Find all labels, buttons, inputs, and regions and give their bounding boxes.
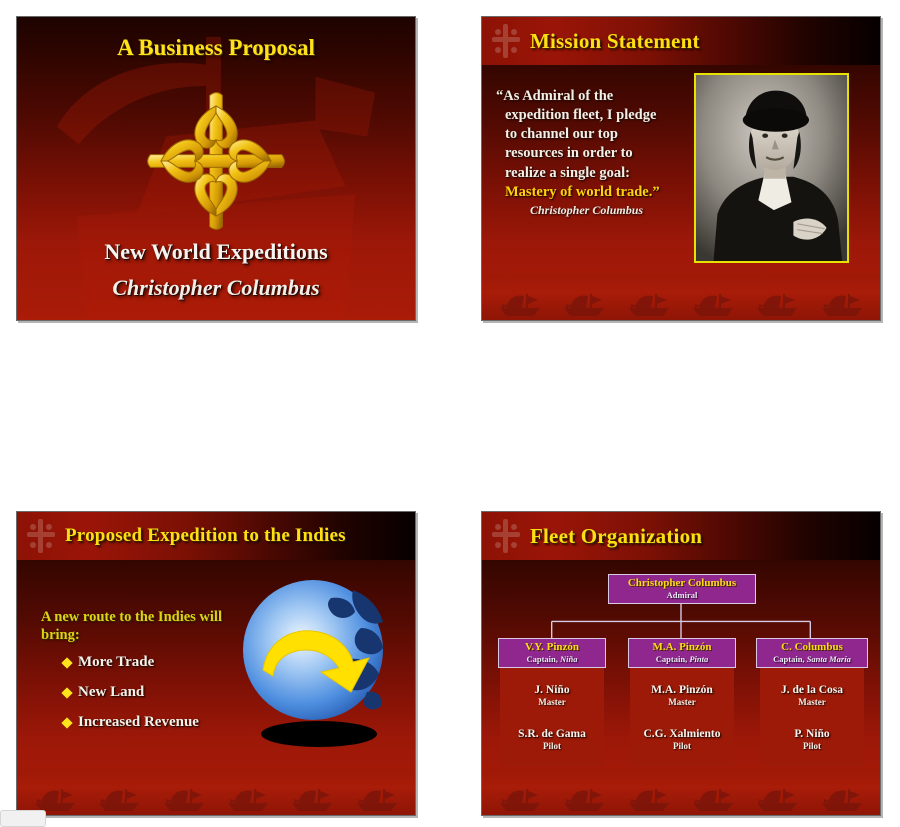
org-node-role: Captain, Pinta — [631, 654, 733, 664]
window-corner-nub[interactable] — [0, 810, 46, 827]
ship-icon — [627, 288, 671, 318]
org-node-name: J. Niño — [498, 684, 606, 697]
benefits-list: More Trade New Land Increased Revenue — [63, 654, 199, 744]
ship-icon — [226, 783, 270, 813]
quote-line-4: resources in order to — [496, 144, 696, 163]
slide-header-band: Mission Statement — [482, 17, 880, 65]
org-node-pilot-nina[interactable]: S.R. de Gama Pilot — [498, 728, 606, 752]
org-node-role: Master — [498, 697, 606, 708]
org-node-pilot-pinta[interactable]: C.G. Xalmiento Pilot — [628, 728, 736, 752]
org-node-captain-nina[interactable]: V.Y. Pinzón Captain, Niña — [498, 638, 606, 668]
globe-graphic — [233, 574, 399, 750]
org-node-role: Pilot — [628, 741, 736, 752]
slide-header-band: Proposed Expedition to the Indies — [17, 512, 415, 560]
ship-icon — [562, 783, 606, 813]
org-node-name: M.A. Pinzón — [631, 641, 733, 654]
list-item-label: New Land — [78, 684, 144, 701]
list-item-label: Increased Revenue — [78, 714, 199, 731]
list-item: More Trade — [63, 654, 199, 671]
quote-line-3: to channel our top — [496, 125, 696, 144]
portrait-image — [696, 75, 847, 261]
ship-icon — [691, 783, 735, 813]
org-node-role: Master — [628, 697, 736, 708]
list-item: Increased Revenue — [63, 714, 199, 731]
diamond-bullet-icon — [61, 687, 72, 698]
org-node-role: Captain, Santa María — [759, 654, 865, 664]
ship-icon — [498, 783, 542, 813]
quote-highlight: Mastery of world trade.” — [496, 183, 696, 202]
ship-strip — [17, 769, 415, 815]
slide-header-title: Mission Statement — [530, 29, 700, 54]
ship-icon — [162, 783, 206, 813]
org-node-name: Christopher Columbus — [611, 577, 753, 590]
slide-subtitle: New World Expeditions — [17, 239, 415, 265]
slide-author: Christopher Columbus — [17, 275, 415, 301]
ship-icon — [355, 783, 399, 813]
org-node-name: C.G. Xalmiento — [628, 728, 736, 741]
org-node-role: Master — [758, 697, 866, 708]
slide-fleet-organization[interactable]: Fleet Organization — [481, 511, 881, 816]
ship-icon — [755, 288, 799, 318]
org-node-role: Pilot — [758, 741, 866, 752]
cross-watermark-icon — [23, 516, 59, 556]
cross-watermark-icon — [488, 516, 524, 556]
org-chart: Christopher Columbus Admiral V.Y. Pinzón… — [492, 560, 870, 769]
ship-icon — [33, 783, 77, 813]
org-node-captain-pinta[interactable]: M.A. Pinzón Captain, Pinta — [628, 638, 736, 668]
quote-line-5: realize a single goal: — [496, 164, 696, 183]
expedition-lead-text: A new route to the Indies will bring: — [41, 608, 231, 644]
ship-icon — [290, 783, 334, 813]
org-node-captain-santa-maria[interactable]: C. Columbus Captain, Santa María — [756, 638, 868, 668]
slide-proposed-expedition[interactable]: Proposed Expedition to the Indies A new … — [16, 511, 416, 816]
ship-strip — [482, 274, 880, 320]
org-node-admiral[interactable]: Christopher Columbus Admiral — [608, 574, 756, 604]
list-item-label: More Trade — [78, 654, 154, 671]
org-node-name: J. de la Cosa — [758, 684, 866, 697]
org-node-name: V.Y. Pinzón — [501, 641, 603, 654]
slide-thumbnail-page: A Business Proposal — [0, 0, 900, 827]
slide-header-band: Fleet Organization — [482, 512, 880, 560]
org-node-master-pinta[interactable]: M.A. Pinzón Master — [628, 684, 736, 708]
quote-attribution: Christopher Columbus — [530, 203, 643, 218]
org-node-name: P. Niño — [758, 728, 866, 741]
slide-header-title: Proposed Expedition to the Indies — [65, 525, 346, 547]
ship-icon — [691, 288, 735, 318]
columbus-portrait — [694, 73, 849, 263]
org-node-role: Pilot — [498, 741, 606, 752]
org-node-role: Captain, Niña — [501, 654, 603, 664]
org-node-name: S.R. de Gama — [498, 728, 606, 741]
ship-icon — [820, 783, 864, 813]
org-node-master-santa-maria[interactable]: J. de la Cosa Master — [758, 684, 866, 708]
org-node-role: Admiral — [611, 590, 753, 600]
slide-title-slide[interactable]: A Business Proposal — [16, 16, 416, 321]
list-item: New Land — [63, 684, 199, 701]
org-node-master-nina[interactable]: J. Niño Master — [498, 684, 606, 708]
ship-icon — [820, 288, 864, 318]
org-node-name: M.A. Pinzón — [628, 684, 736, 697]
slide-mission-statement[interactable]: Mission Statement “As Admiral of the exp… — [481, 16, 881, 321]
slide-header-title: Fleet Organization — [530, 524, 702, 549]
cross-watermark-icon — [488, 21, 524, 61]
ship-icon — [755, 783, 799, 813]
quote-line-1: “As Admiral of the — [496, 87, 696, 106]
gold-cross-emblem-icon — [142, 87, 290, 235]
ship-icon — [562, 288, 606, 318]
diamond-bullet-icon — [61, 657, 72, 668]
ship-strip — [482, 769, 880, 815]
ship-icon — [498, 288, 542, 318]
org-node-name: C. Columbus — [759, 641, 865, 654]
org-node-pilot-santa-maria[interactable]: P. Niño Pilot — [758, 728, 866, 752]
mission-quote: “As Admiral of the expedition fleet, I p… — [496, 87, 696, 202]
quote-line-2: expedition fleet, I pledge — [496, 106, 696, 125]
ship-icon — [627, 783, 671, 813]
ship-icon — [97, 783, 141, 813]
slide-title: A Business Proposal — [17, 35, 415, 61]
diamond-bullet-icon — [61, 717, 72, 728]
